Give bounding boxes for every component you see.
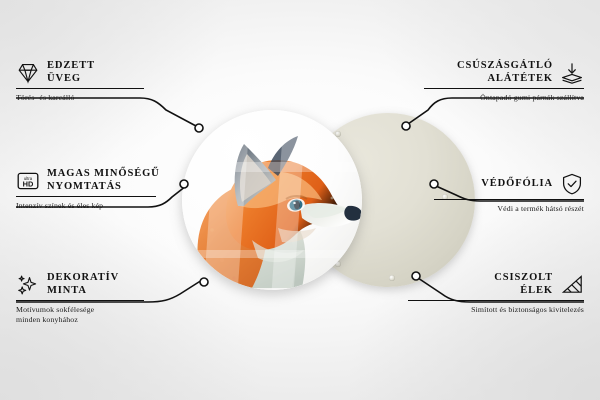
feature-title-line1: DEKORATÍV [47,272,119,285]
arrow-down-pad-icon [560,61,584,85]
feature-high-quality-print: ultra HD MAGAS MINŐSÉGŰ NYOMTATÁS Intenz… [16,168,166,211]
feature-tempered-glass: EDZETT ÜVEG Törés- és karcálló [16,60,156,103]
feature-title-line1: EDZETT [47,60,95,73]
feature-subtitle: Törés- és karcálló [16,93,156,103]
feature-divider [434,199,584,200]
feature-title-line2: ÉLEK [494,285,553,298]
feature-protective-film: VÉDŐFÓLIA Védi a termék hátsó részét [434,172,584,214]
feature-subtitle: Védi a termék hátsó részét [434,204,584,214]
feature-subtitle-line1: Motívumok sokfélesége [16,305,156,315]
svg-text:HD: HD [23,179,34,188]
diamond-icon [16,61,40,85]
feature-title-line2: ÜVEG [47,73,95,86]
feature-title-line1: CSÚSZÁSGÁTLÓ [457,60,553,73]
feature-subtitle-line2: minden konyhához [16,315,156,325]
feature-decorative-pattern: DEKORATÍV MINTA Motívumok sokfélesége mi… [16,272,156,325]
feature-anti-slip-pads: CSÚSZÁSGÁTLÓ ALÁTÉTEK Öntapadó gumi párn… [424,60,584,103]
feature-divider [16,88,144,89]
printed-glass-disc [182,110,362,290]
hatched-wedge-icon [560,273,584,297]
feature-title-line2: NYOMTATÁS [47,181,160,194]
feature-divider [16,300,144,301]
feature-title-line1: CSISZOLT [494,272,553,285]
feature-title-line1: MAGAS MINŐSÉGŰ [47,168,160,181]
feature-subtitle: Simított és biztonságos kivitelezés [408,305,584,315]
feature-subtitle: Öntapadó gumi párnák szállítva [424,93,584,103]
feature-title-line2: MINTA [47,285,119,298]
rubber-pad [389,275,395,281]
feature-divider [16,196,156,197]
sparkle-icon [16,273,40,297]
fox-motif-icon [182,110,362,290]
shield-check-icon [560,172,584,196]
feature-title-line2: ALÁTÉTEK [457,73,553,86]
feature-title-line1: VÉDŐFÓLIA [481,178,553,191]
feature-polished-edges: CSISZOLT ÉLEK Simított és biztonságos ki… [408,272,584,315]
ultra-hd-icon: ultra HD [16,169,40,193]
feature-divider [408,300,584,301]
feature-subtitle: Intenzív színek és éles kép [16,201,166,211]
infographic-canvas: EDZETT ÜVEG Törés- és karcálló ultra HD … [0,0,600,400]
feature-divider [424,88,584,89]
